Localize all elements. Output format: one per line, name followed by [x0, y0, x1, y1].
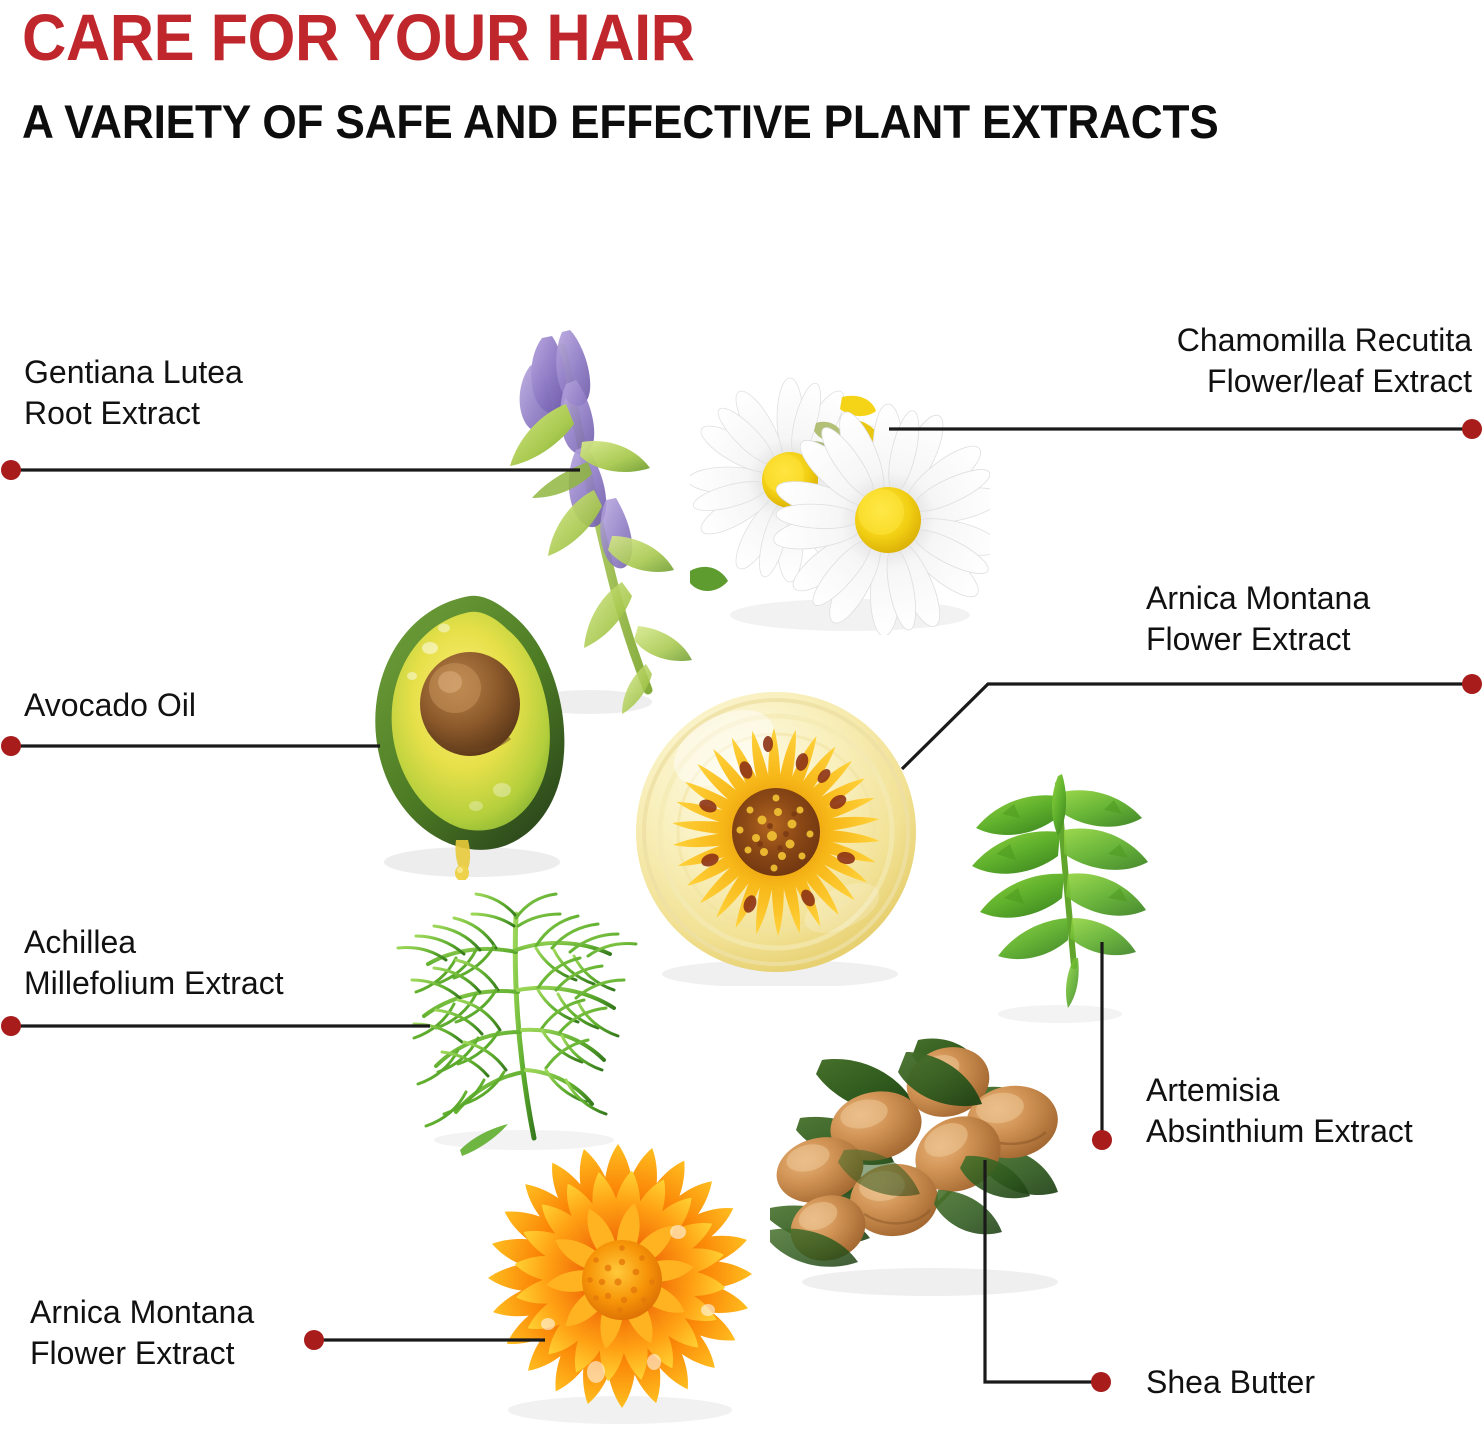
chamomilla-recutita-illustration [690, 375, 990, 635]
leader-marker-avocado-oil [1, 736, 21, 756]
leader-marker-artemisia-absinthium-extract [1092, 1130, 1112, 1150]
callout-label-artemisia-absinthium-extract: Artemisia Absinthium Extract [1146, 1070, 1413, 1152]
leader-line-arnica-montana-flower-extract-top [902, 684, 1472, 769]
page-subtitle: A VARIETY OF SAFE AND EFFECTIVE PLANT EX… [22, 96, 1219, 148]
callout-label-gentiana-lutea-root-extract: Gentiana Lutea Root Extract [24, 352, 243, 434]
achillea-millefolium-illustration [384, 892, 654, 1152]
leader-marker-gentiana-lutea-root-extract [1, 460, 21, 480]
leader-marker-arnica-montana-flower-extract-top [1462, 674, 1482, 694]
callout-label-shea-butter: Shea Butter [1146, 1362, 1315, 1403]
artemisia-absinthium-illustration [940, 770, 1160, 1030]
callout-label-arnica-montana-flower-extract-top: Arnica Montana Flower Extract [1146, 578, 1370, 660]
callout-label-avocado-oil: Avocado Oil [24, 685, 196, 726]
avocado-oil-illustration [352, 590, 592, 880]
leader-marker-arnica-montana-flower-extract-bottom [304, 1330, 324, 1350]
arnica-montana-flower-illustration [470, 1128, 770, 1428]
page-title: CARE FOR YOUR HAIR [22, 2, 695, 72]
header: CARE FOR YOUR HAIR A VARIETY OF SAFE AND… [0, 0, 1484, 165]
arnica-oil-bowl-illustration [628, 686, 928, 986]
calendula-leaf-tip-illustration [460, 1120, 510, 1160]
infographic-canvas: CARE FOR YOUR HAIR A VARIETY OF SAFE AND… [0, 0, 1484, 1437]
callout-label-chamomilla-recutita-flower-leaf-extract: Chamomilla Recutita Flower/leaf Extract [1177, 320, 1472, 402]
shea-butter-nuts-illustration [770, 1030, 1070, 1300]
leader-marker-shea-butter [1091, 1372, 1111, 1392]
leader-marker-chamomilla-recutita-flower-leaf-extract [1462, 419, 1482, 439]
callout-label-achillea-millefolium-extract: Achillea Millefolium Extract [24, 922, 284, 1004]
leader-marker-achillea-millefolium-extract [1, 1016, 21, 1036]
callout-label-arnica-montana-flower-extract-bottom: Arnica Montana Flower Extract [30, 1292, 254, 1374]
